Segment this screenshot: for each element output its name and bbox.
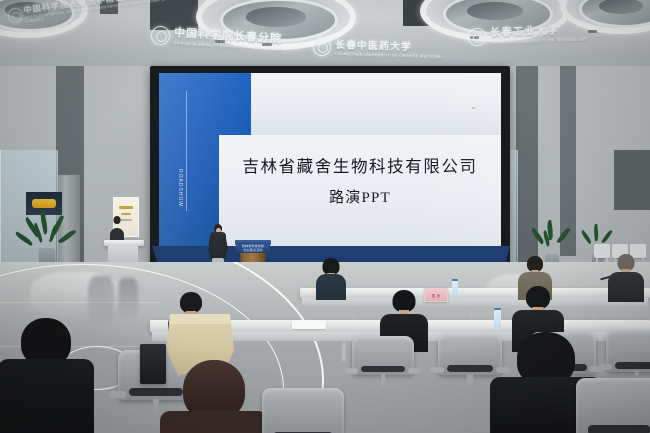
attendee-front-mid — [160, 360, 268, 433]
slide-marker-icon — [472, 107, 475, 109]
wall-panel-far-right — [614, 150, 650, 210]
ceiling — [0, 0, 650, 72]
name-placard-text: 藏 舍 — [425, 293, 447, 298]
chair-front-left — [262, 388, 344, 433]
slide-side-label: ROADSHOW — [177, 169, 183, 207]
desk-row-back-front — [302, 298, 648, 306]
floor-reflection-dark — [118, 278, 138, 322]
slide-panel-upper — [251, 73, 501, 135]
attendee-back-left — [316, 258, 346, 300]
reception-desk-front — [108, 246, 138, 262]
desk-paper — [292, 320, 326, 329]
conference-hall-photo: 中国科学院长春光学精密机械与物理研究所 INSTITUTE OF OPTICS,… — [0, 0, 650, 433]
attendee-far-right — [608, 254, 644, 302]
slide-accent-line — [186, 91, 187, 211]
chair-front-right — [576, 378, 650, 433]
podium-banner: 吉林省科技创新 创业路演活动 — [236, 244, 270, 253]
attendee-front-left — [0, 318, 94, 433]
water-bottle — [452, 281, 458, 297]
chair-middle-1 — [352, 336, 414, 394]
ceiling-light-left — [0, 0, 88, 38]
slide-subtitle: 路演PPT — [219, 191, 501, 206]
ceiling-light-far-right — [560, 0, 650, 34]
potted-palm-left — [28, 208, 66, 268]
led-video-wall: ROADSHOW 吉林省藏舍生物科技有限公司 路演PPT — [150, 66, 510, 266]
water-bottle — [494, 310, 501, 328]
slide-title: 吉林省藏舍生物科技有限公司 — [219, 159, 501, 176]
podium-banner-line-2: 创业路演活动 — [236, 248, 270, 252]
desk-row-back — [300, 288, 650, 298]
ceiling-light-right — [420, 0, 570, 42]
